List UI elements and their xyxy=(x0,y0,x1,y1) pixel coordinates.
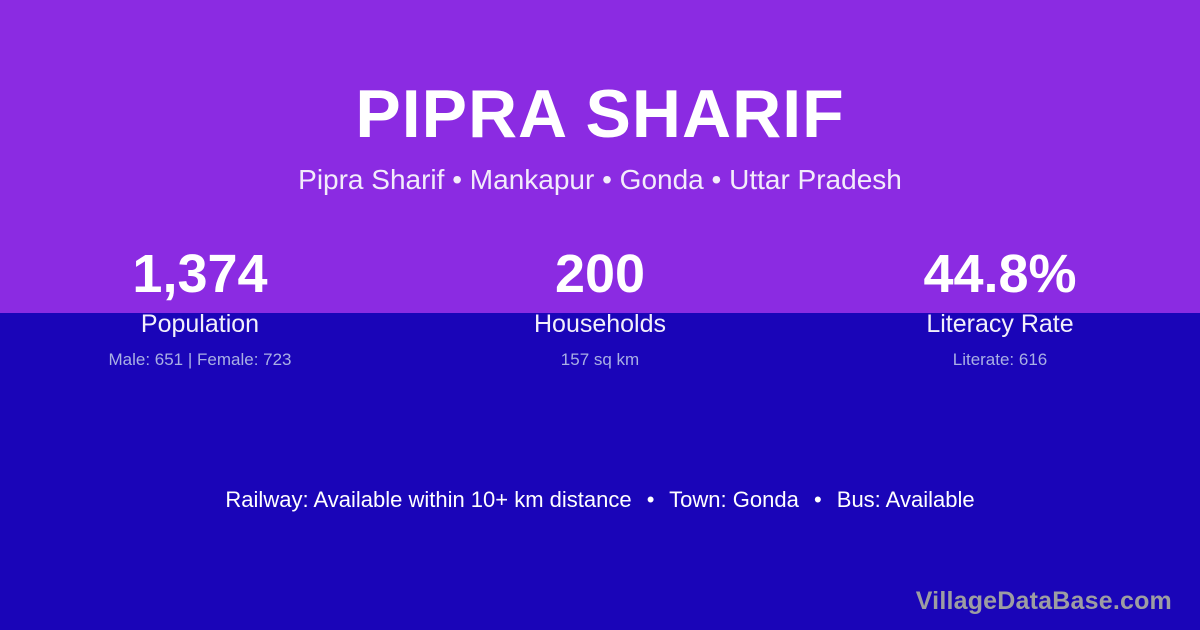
stat-literacy-label: Literacy Rate xyxy=(800,309,1200,340)
stat-literacy-value: 44.8% xyxy=(800,243,1200,307)
info-separator-icon: • xyxy=(805,486,831,515)
stat-households: 200 Households 157 sq km xyxy=(400,243,800,371)
stat-population-detail: Male: 651 | Female: 723 xyxy=(0,349,400,371)
stat-literacy: 44.8% Literacy Rate Literate: 616 xyxy=(800,243,1200,371)
info-railway: Railway: Available within 10+ km distanc… xyxy=(225,487,631,512)
stat-households-label: Households xyxy=(400,309,800,340)
stat-literacy-detail: Literate: 616 xyxy=(800,349,1200,371)
stat-population: 1,374 Population Male: 651 | Female: 723 xyxy=(0,243,400,371)
stat-population-label: Population xyxy=(0,309,400,340)
info-bus: Bus: Available xyxy=(837,487,975,512)
stat-population-value: 1,374 xyxy=(0,243,400,307)
page-title: PIPRA SHARIF xyxy=(0,78,1200,151)
breadcrumb: Pipra Sharif • Mankapur • Gonda • Uttar … xyxy=(0,163,1200,197)
site-brand-watermark: VillageDataBase.com xyxy=(916,586,1172,616)
stats-row: 1,374 Population Male: 651 | Female: 723… xyxy=(0,243,1200,371)
card-header: PIPRA SHARIF Pipra Sharif • Mankapur • G… xyxy=(0,0,1200,197)
village-info-card: PIPRA SHARIF Pipra Sharif • Mankapur • G… xyxy=(0,0,1200,630)
stat-households-value: 200 xyxy=(400,243,800,307)
amenities-info-line: Railway: Available within 10+ km distanc… xyxy=(0,486,1200,515)
info-separator-icon: • xyxy=(638,486,664,515)
info-town: Town: Gonda xyxy=(669,487,799,512)
stat-households-detail: 157 sq km xyxy=(400,349,800,371)
